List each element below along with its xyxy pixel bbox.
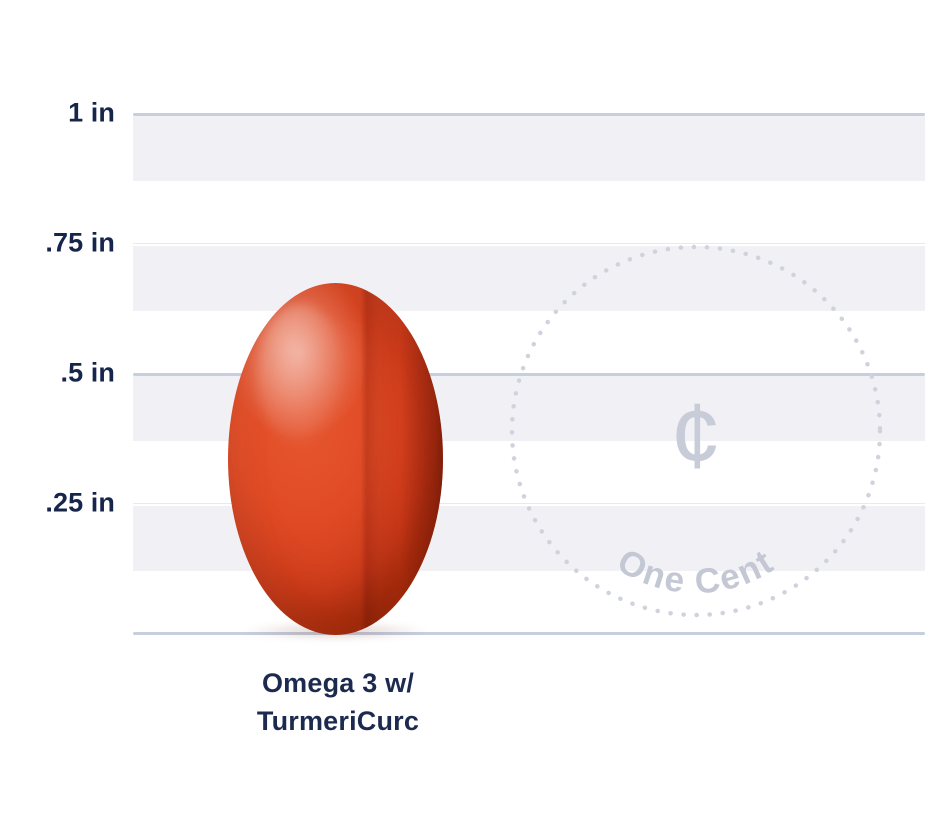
axis-tick-05in: .5 in (0, 360, 115, 387)
pill-caption-line-1: Omega 3 w/ (188, 664, 488, 702)
pill-size-comparison-chart: 1 in .75 in .5 in .25 in ¢ One Cent Omeg… (0, 0, 950, 820)
axis-tick-1in: 1 in (0, 100, 115, 127)
pill-body (228, 283, 443, 635)
pill-caption-line-2: TurmeriCurc (188, 702, 488, 740)
gridline-1in (133, 113, 925, 116)
pill-caption: Omega 3 w/ TurmeriCurc (188, 664, 488, 741)
axis-tick-025in: .25 in (0, 490, 115, 517)
axis-tick-075in: .75 in (0, 230, 115, 257)
pill-seam (228, 283, 443, 635)
band-1in (133, 116, 925, 181)
coin-reference-object: ¢ One Cent (510, 245, 882, 617)
gridline-075in (133, 243, 925, 244)
softgel-capsule-icon (228, 283, 443, 635)
cent-symbol-icon: ¢ (670, 385, 721, 487)
coin-arc-label: One Cent (611, 541, 781, 601)
